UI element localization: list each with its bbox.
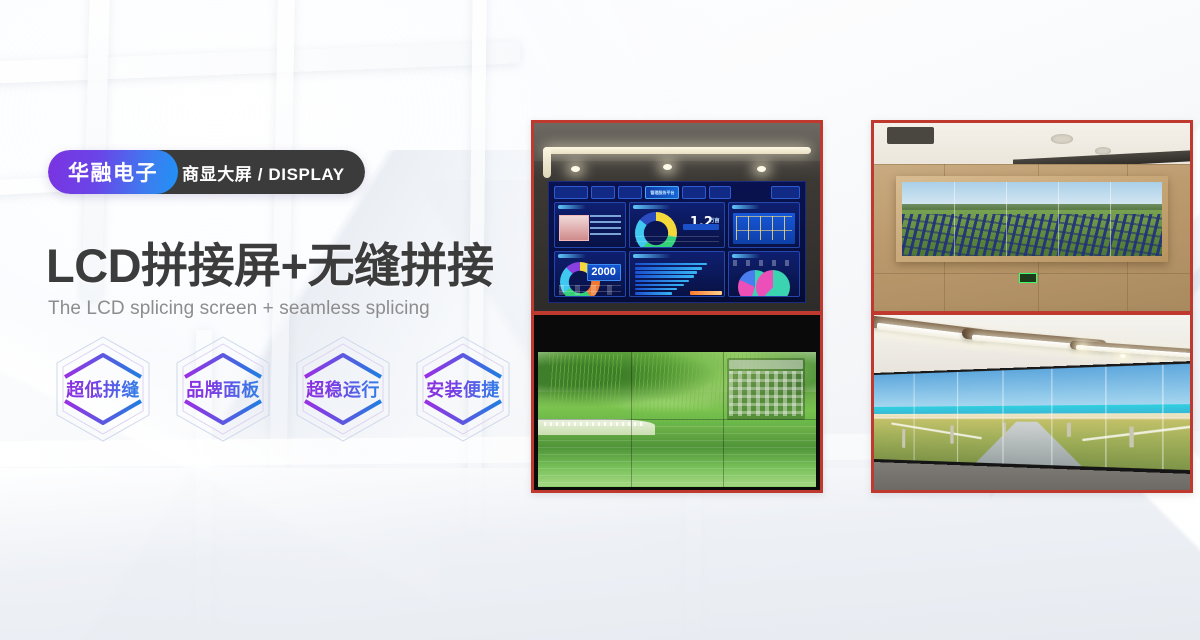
dashboard-card-flow bbox=[728, 202, 799, 248]
willow-lake-screen bbox=[538, 352, 815, 487]
feature-badge-row: 超低拼缝 品牌面板 bbox=[48, 333, 518, 445]
feature-label: 品牌面板 bbox=[186, 376, 260, 402]
page-subtitle: The LCD splicing screen + seamless splic… bbox=[48, 298, 430, 320]
dashboard-card-metric: 2000 bbox=[554, 251, 625, 297]
page-title: LCD拼接屏+无缝拼接 bbox=[46, 227, 494, 296]
photo-beach-boardwalk-video-wall bbox=[871, 312, 1193, 493]
banner-text-column: 华融电子 商显大屏 / DISPLAY LCD拼接屏+无缝拼接 The LCD … bbox=[46, 0, 516, 640]
dashboard-card-donut: 1.2 万亩 bbox=[629, 202, 725, 248]
dashboard-metric-2000: 2000 bbox=[587, 264, 621, 281]
brand-company-name: 华融电子 bbox=[48, 150, 178, 194]
beach-video-wall-screen bbox=[874, 359, 1193, 475]
feature-badge-3: 超稳运行 bbox=[288, 333, 398, 445]
calendar-widget bbox=[727, 358, 805, 420]
photo-dashboard-video-wall: 管理服务平台 1.2 万亩 bbox=[531, 120, 823, 314]
feature-label: 超低拼缝 bbox=[66, 376, 140, 402]
dashboard-title: 管理服务平台 bbox=[645, 186, 679, 200]
product-banner: 华融电子 商显大屏 / DISPLAY LCD拼接屏+无缝拼接 The LCD … bbox=[0, 0, 1200, 640]
photo-solar-farm-video-wall bbox=[871, 120, 1193, 314]
solar-video-wall-screen bbox=[902, 182, 1162, 256]
feature-badge-1: 超低拼缝 bbox=[48, 333, 158, 445]
dashboard-screen: 管理服务平台 1.2 万亩 bbox=[548, 181, 805, 303]
photo-willow-lake-video-wall bbox=[531, 312, 823, 493]
brand-category-label: 商显大屏 / DISPLAY bbox=[152, 150, 365, 194]
dashboard-card-pies bbox=[728, 251, 799, 297]
dashboard-card-bars bbox=[629, 251, 725, 297]
feature-label: 超稳运行 bbox=[306, 376, 380, 402]
solar-video-wall-frame bbox=[896, 176, 1168, 262]
feature-label: 安装便捷 bbox=[426, 376, 500, 402]
brand-badge: 华融电子 商显大屏 / DISPLAY bbox=[48, 150, 365, 194]
feature-badge-4: 安装便捷 bbox=[408, 333, 518, 445]
feature-badge-2: 品牌面板 bbox=[168, 333, 278, 445]
dashboard-card-intro bbox=[554, 202, 625, 248]
